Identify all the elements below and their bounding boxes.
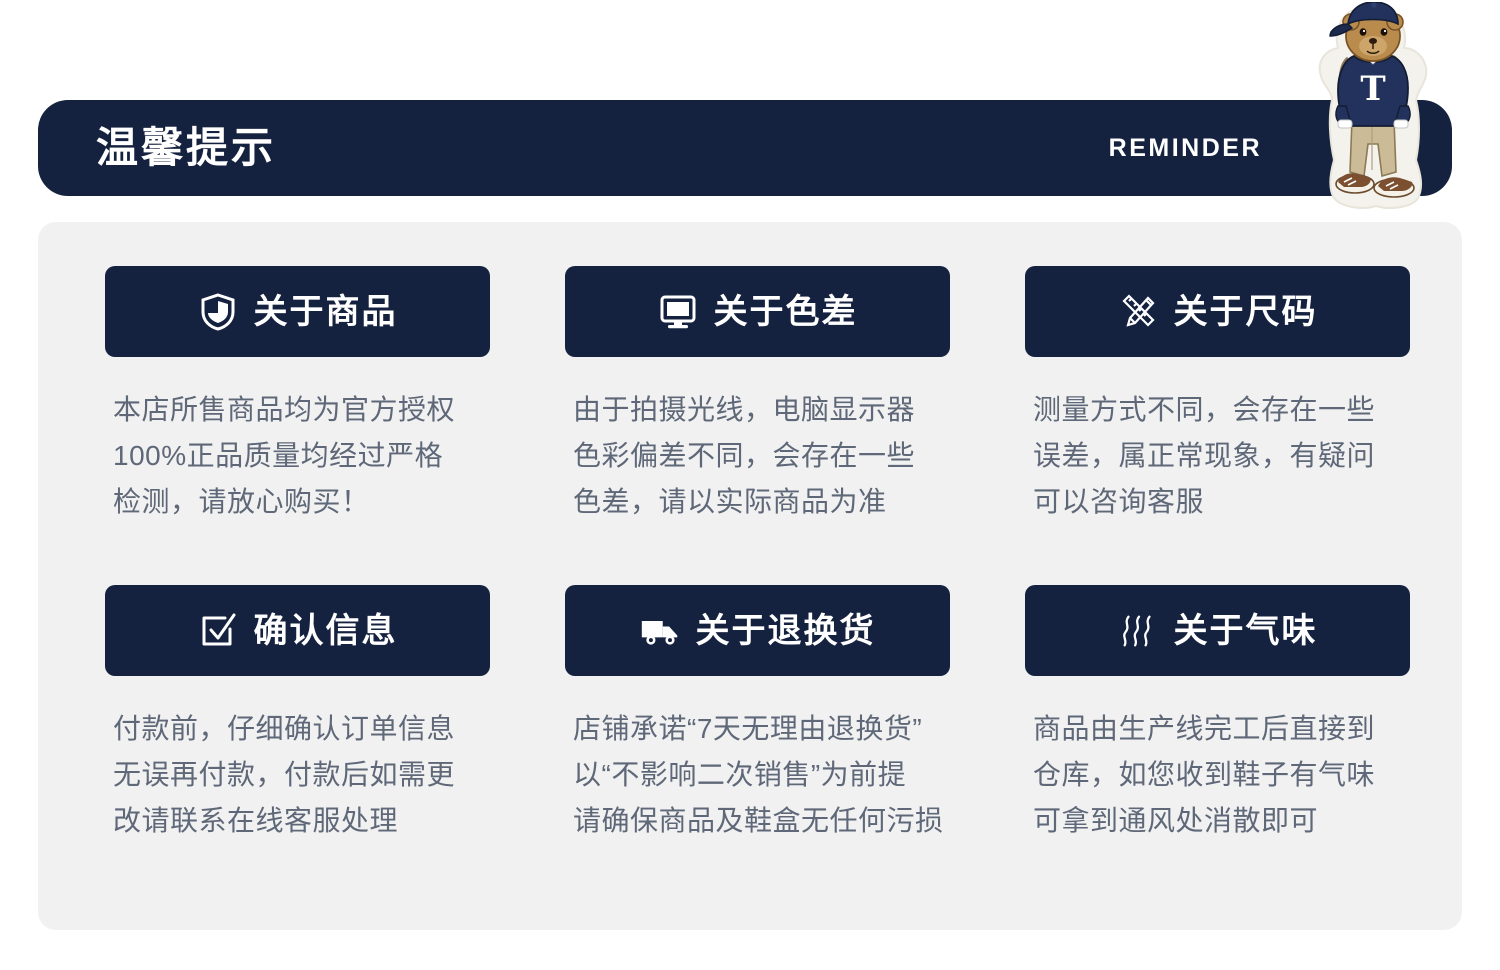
card-header: 确认信息 (105, 585, 490, 676)
card-body-line: 检测，请放心购买！ (113, 479, 490, 525)
card-header: 关于退换货 (565, 585, 950, 676)
card-title: 确认信息 (254, 614, 398, 648)
reminder-card-grid: 关于商品 本店所售商品均为官方授权 100%正品质量均经过严格 检测，请放心购买… (105, 266, 1413, 844)
reminder-page: 温馨提示 REMINDER (0, 0, 1500, 970)
reminder-card: 关于色差 由于拍摄光线，电脑显示器 色彩偏差不同，会存在一些 色差，请以实际商品… (565, 266, 950, 525)
card-header: 关于尺码 (1025, 266, 1410, 357)
reminder-card: 关于退换货 店铺承诺“7天无理由退换货” 以“不影响二次销售”为前提 请确保商品… (565, 585, 950, 844)
card-body: 商品由生产线完工后直接到 仓库，如您收到鞋子有气味 可拿到通风处消散即可 (1025, 706, 1410, 844)
monitor-icon (658, 292, 698, 332)
card-body-line: 改请联系在线客服处理 (113, 798, 490, 844)
card-body-line: 可拿到通风处消散即可 (1033, 798, 1410, 844)
card-body-line: 100%正品质量均经过严格 (113, 433, 490, 479)
header-banner: 温馨提示 REMINDER (38, 100, 1452, 196)
card-body-line: 以“不影响二次销售”为前提 (573, 752, 950, 798)
card-body-line: 仓库，如您收到鞋子有气味 (1033, 752, 1410, 798)
smell-waves-icon (1118, 611, 1158, 651)
card-body: 店铺承诺“7天无理由退换货” 以“不影响二次销售”为前提 请确保商品及鞋盒无任何… (565, 706, 950, 844)
reminder-card: 关于商品 本店所售商品均为官方授权 100%正品质量均经过严格 检测，请放心购买… (105, 266, 490, 525)
card-body: 由于拍摄光线，电脑显示器 色彩偏差不同，会存在一些 色差，请以实际商品为准 (565, 387, 950, 525)
card-body-line: 付款前，仔细确认订单信息 (113, 706, 490, 752)
card-body-line: 无误再付款，付款后如需更 (113, 752, 490, 798)
delivery-truck-icon (640, 611, 680, 651)
card-body-line: 商品由生产线完工后直接到 (1033, 706, 1410, 752)
card-body-line: 误差，属正常现象，有疑问 (1033, 433, 1410, 479)
card-body: 本店所售商品均为官方授权 100%正品质量均经过严格 检测，请放心购买！ (105, 387, 490, 525)
card-body-line: 可以咨询客服 (1033, 479, 1410, 525)
shield-icon (198, 292, 238, 332)
card-body-line: 测量方式不同，会存在一些 (1033, 387, 1410, 433)
card-body-line: 请确保商品及鞋盒无任何污损 (573, 798, 950, 844)
card-title: 关于商品 (254, 295, 398, 329)
reminder-card: 关于气味 商品由生产线完工后直接到 仓库，如您收到鞋子有气味 可拿到通风处消散即… (1025, 585, 1410, 844)
header-subtitle: REMINDER (1109, 136, 1262, 161)
check-square-icon (198, 611, 238, 651)
card-body-line: 本店所售商品均为官方授权 (113, 387, 490, 433)
card-title: 关于退换货 (696, 614, 876, 648)
card-title: 关于色差 (714, 295, 858, 329)
ruler-pencil-icon (1118, 292, 1158, 332)
card-header: 关于色差 (565, 266, 950, 357)
card-body-line: 色彩偏差不同，会存在一些 (573, 433, 950, 479)
card-title: 关于尺码 (1174, 295, 1318, 329)
card-body: 测量方式不同，会存在一些 误差，属正常现象，有疑问 可以咨询客服 (1025, 387, 1410, 525)
card-title: 关于气味 (1174, 614, 1318, 648)
card-body: 付款前，仔细确认订单信息 无误再付款，付款后如需更 改请联系在线客服处理 (105, 706, 490, 844)
reminder-card: 关于尺码 测量方式不同，会存在一些 误差，属正常现象，有疑问 可以咨询客服 (1025, 266, 1410, 525)
card-body-line: 由于拍摄光线，电脑显示器 (573, 387, 950, 433)
card-body-line: 店铺承诺“7天无理由退换货” (573, 706, 950, 752)
card-body-line: 色差，请以实际商品为准 (573, 479, 950, 525)
card-header: 关于气味 (1025, 585, 1410, 676)
page-title: 温馨提示 (96, 127, 276, 169)
card-header: 关于商品 (105, 266, 490, 357)
reminder-card: 确认信息 付款前，仔细确认订单信息 无误再付款，付款后如需更 改请联系在线客服处… (105, 585, 490, 844)
